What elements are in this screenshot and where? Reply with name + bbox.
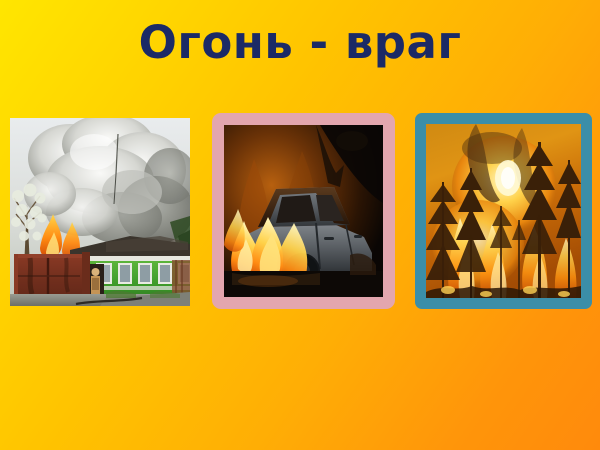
forest-fire-photo [415,113,592,309]
page-title: Огонь - враг [0,14,600,72]
burning-car-image [224,125,383,297]
forest-fire-image [426,124,581,298]
burning-house-illustration [10,118,190,306]
burning-car-illustration [224,125,383,297]
slide-canvas: Огонь - враг [0,0,600,450]
forest-fire-illustration [426,124,581,298]
burning-car-photo [212,113,395,309]
burning-house-photo [10,118,190,306]
burning-house-image [10,118,190,306]
